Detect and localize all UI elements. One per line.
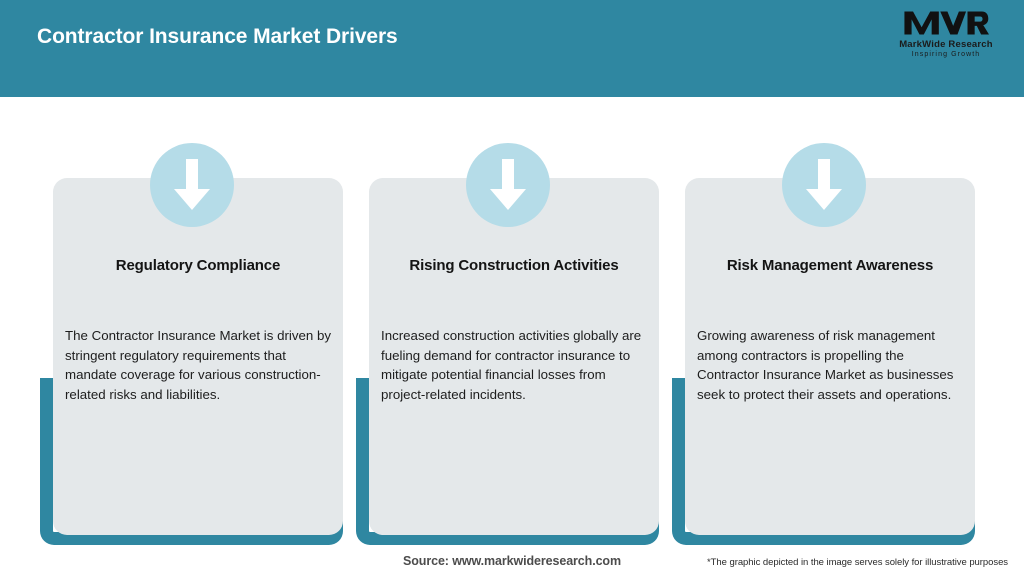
driver-card-2[interactable]: Rising Construction Activities Increased… bbox=[356, 97, 672, 552]
down-arrow-icon bbox=[466, 143, 550, 227]
logo-company-name: MarkWide Research bbox=[886, 39, 1006, 50]
card-surface: Regulatory Compliance The Contractor Ins… bbox=[53, 178, 343, 535]
disclaimer-label: *The graphic depicted in the image serve… bbox=[707, 557, 1008, 568]
mwr-logo-icon bbox=[903, 8, 989, 38]
card-body-text: Growing awareness of risk management amo… bbox=[697, 326, 965, 404]
card-title: Risk Management Awareness bbox=[685, 257, 975, 274]
logo-tagline: Inspiring Growth bbox=[886, 50, 1006, 59]
card-body-text: The Contractor Insurance Market is drive… bbox=[65, 326, 333, 404]
down-arrow-icon bbox=[782, 143, 866, 227]
down-arrow-glyph bbox=[173, 159, 211, 211]
driver-card-1[interactable]: Regulatory Compliance The Contractor Ins… bbox=[40, 97, 356, 552]
page-title: Contractor Insurance Market Drivers bbox=[37, 25, 398, 49]
driver-card-3[interactable]: Risk Management Awareness Growing awaren… bbox=[672, 97, 988, 552]
down-arrow-glyph bbox=[489, 159, 527, 211]
down-arrow-icon bbox=[150, 143, 234, 227]
card-title: Regulatory Compliance bbox=[53, 257, 343, 274]
page-header: Contractor Insurance Market Drivers Mark… bbox=[0, 0, 1024, 97]
card-body-text: Increased construction activities global… bbox=[381, 326, 649, 404]
card-surface: Risk Management Awareness Growing awaren… bbox=[685, 178, 975, 535]
card-title: Rising Construction Activities bbox=[369, 257, 659, 274]
drivers-card-group: Regulatory Compliance The Contractor Ins… bbox=[0, 97, 1024, 552]
down-arrow-glyph bbox=[805, 159, 843, 211]
brand-logo: MarkWide Research Inspiring Growth bbox=[886, 8, 1006, 64]
card-surface: Rising Construction Activities Increased… bbox=[369, 178, 659, 535]
